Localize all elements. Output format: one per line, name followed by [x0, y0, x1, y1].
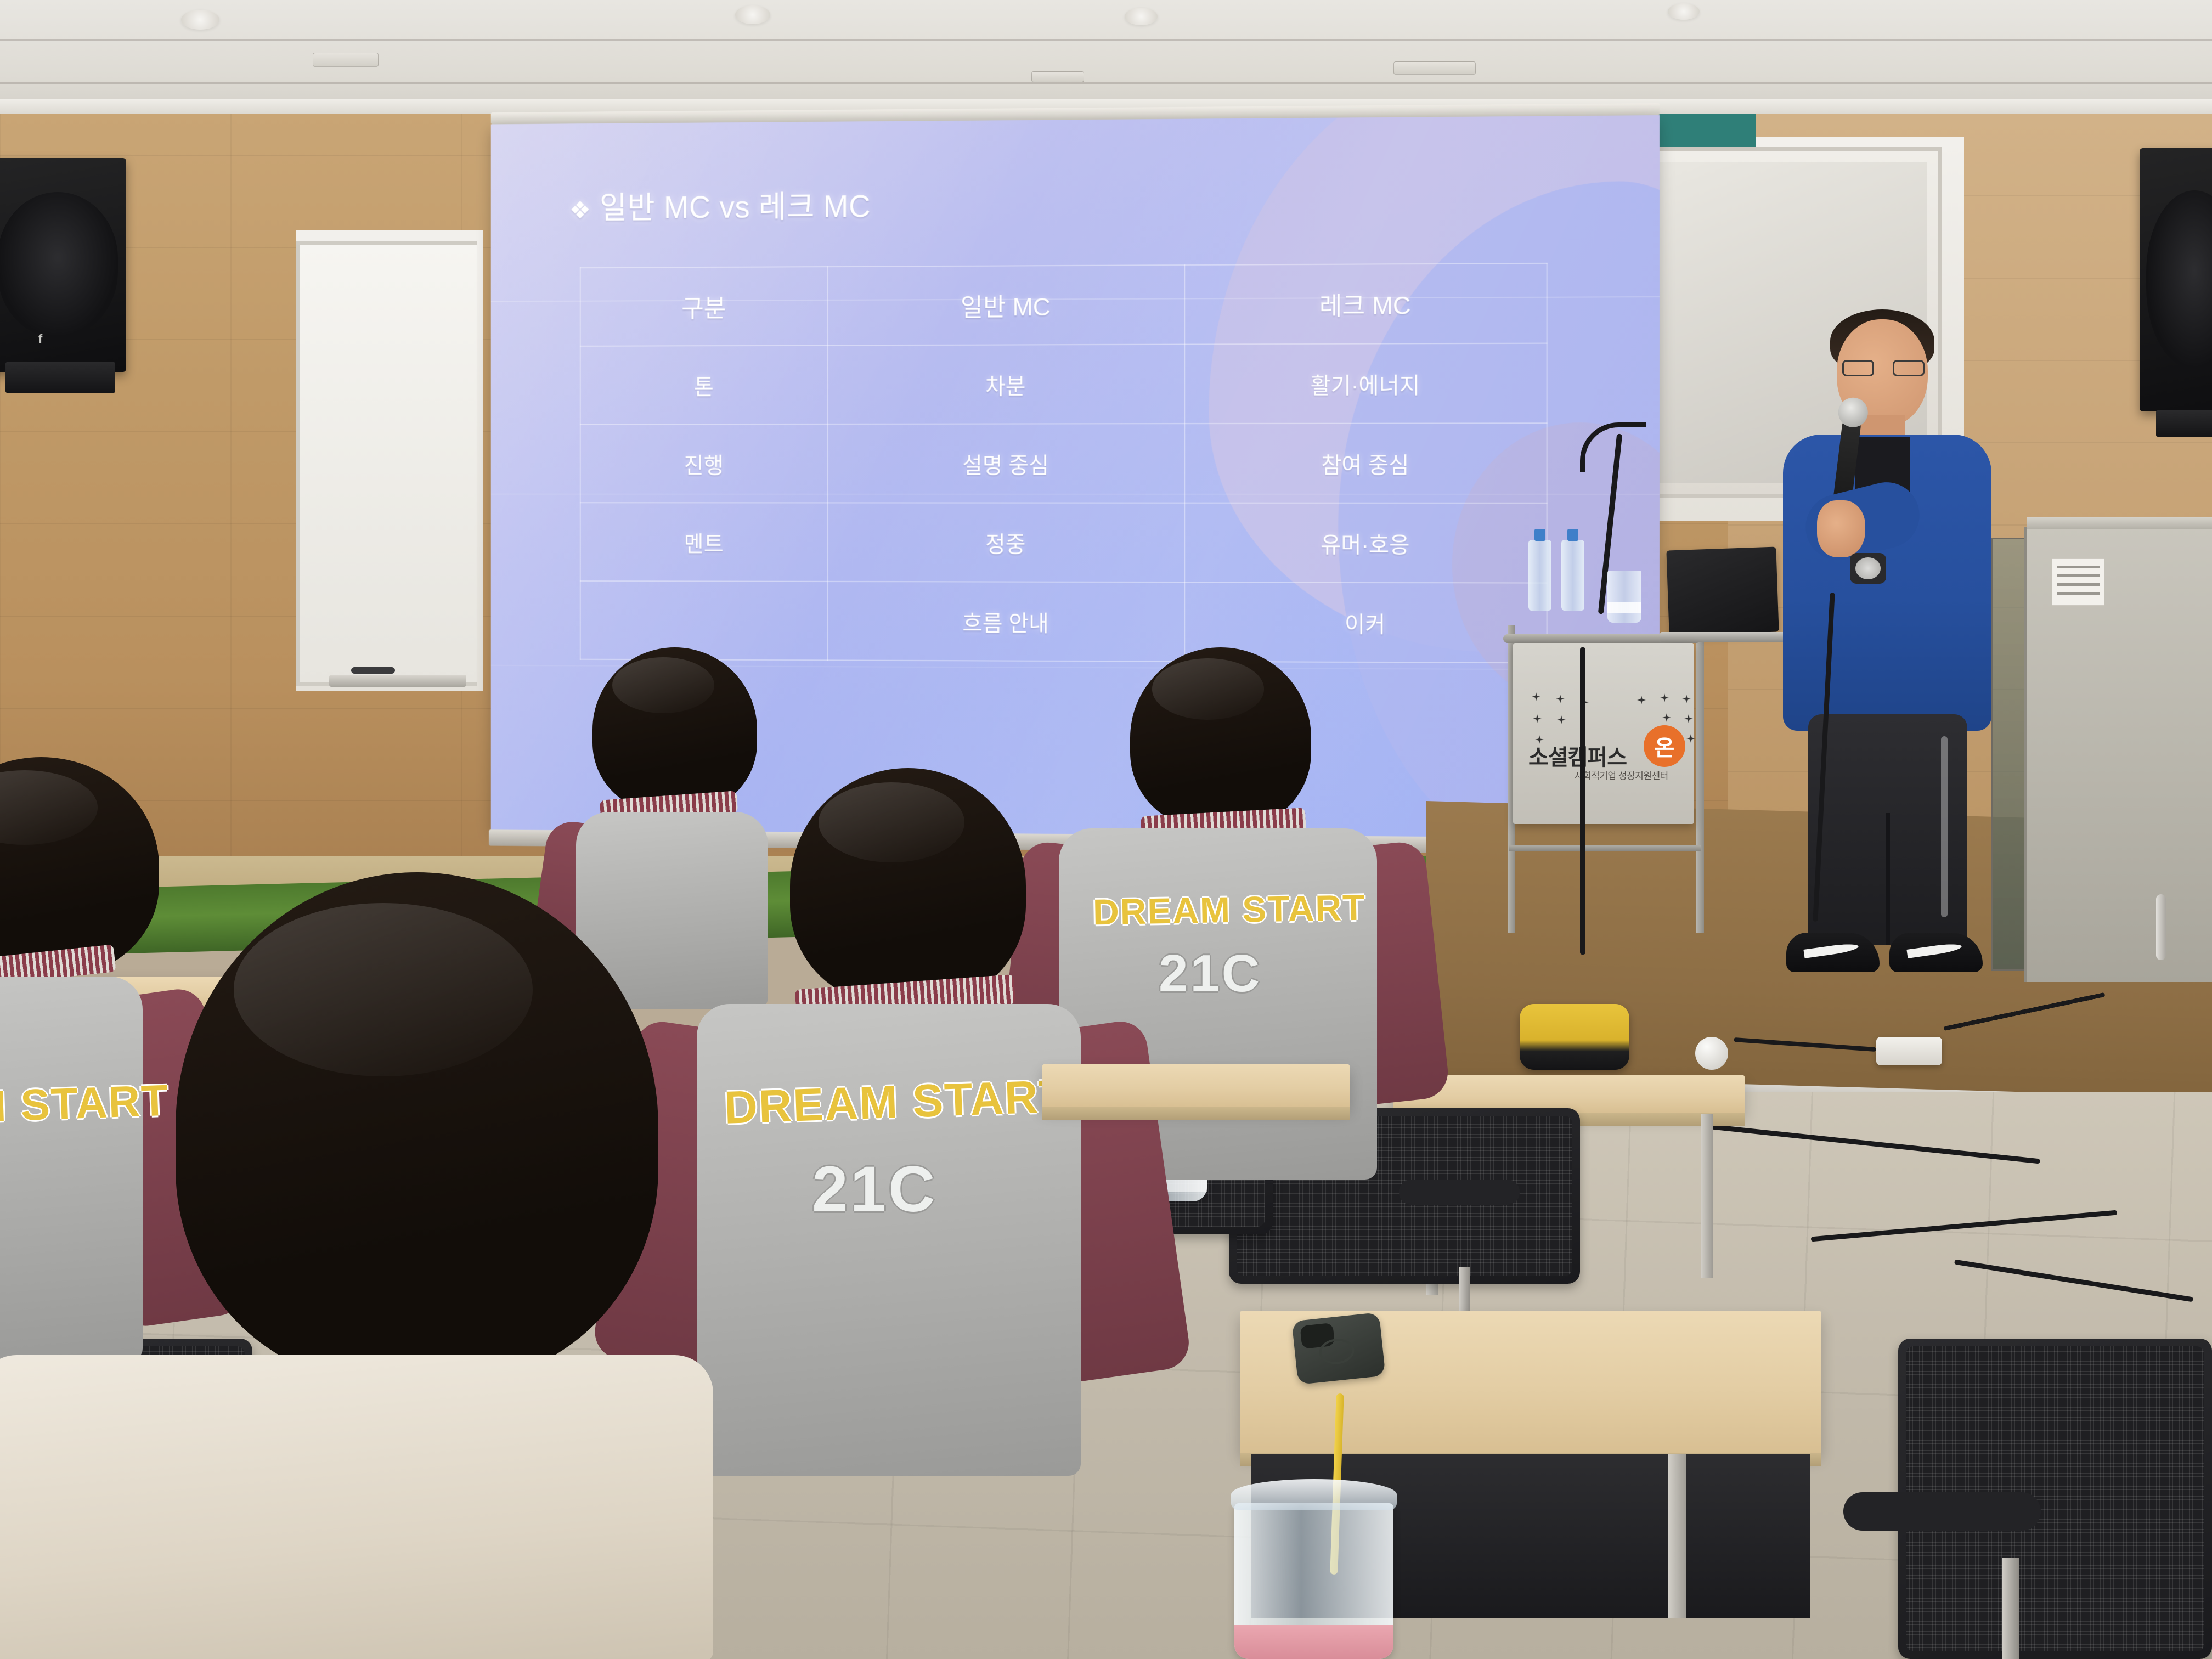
table-row: 진행 설명 중심 참여 중심: [580, 423, 1547, 503]
water-bottle[interactable]: [1561, 540, 1584, 611]
cable: [1580, 647, 1585, 955]
whiteboard-marker: [351, 667, 395, 674]
cabinet-handle[interactable]: [2156, 894, 2166, 960]
sneaker-left: [1786, 933, 1880, 972]
presenter: MDP: [1772, 307, 2002, 1053]
ceiling-light: [1668, 3, 1700, 20]
table-cell: 정중: [828, 503, 1184, 582]
podium-subtitle: 사회적기업 성장지원센터: [1575, 768, 1668, 782]
desk-mid: [1042, 1064, 1350, 1108]
ceiling-vent: [1031, 71, 1084, 82]
equipment-case[interactable]: [1520, 1004, 1629, 1070]
table-row: 톤 차분 활기·에너지: [580, 343, 1547, 425]
attendee-sweater: [0, 1355, 713, 1659]
wall-speaker-left: f: [0, 158, 126, 372]
jacket-number: 21C: [812, 1152, 937, 1227]
table-cell: 진행: [580, 424, 828, 503]
lecture-room-photo: f ❖일반 MC vs 레크 MC 구분 일반: [0, 0, 2212, 1659]
cabinet-label: [2052, 558, 2104, 606]
table-header-row: 구분 일반 MC 레크 MC: [580, 263, 1547, 346]
table-cell: 참여 중심: [1184, 423, 1547, 503]
ceiling-light: [735, 5, 770, 24]
diamond-bullet-icon: ❖: [569, 196, 591, 224]
table-header-cell: 일반 MC: [828, 265, 1184, 345]
ceiling-light: [181, 10, 219, 30]
ceiling-vent: [1393, 61, 1476, 75]
drink-cup-foreground[interactable]: [1234, 1503, 1393, 1659]
speaker-bracket-right: [2156, 410, 2212, 437]
sneaker-right: [1889, 933, 1983, 972]
drink-cup[interactable]: [1607, 571, 1641, 623]
laptop[interactable]: [1666, 547, 1779, 636]
slide-title: ❖일반 MC vs 레크 MC: [569, 182, 871, 228]
desk-leg: [1668, 1454, 1686, 1618]
chair-post: [2002, 1558, 2019, 1659]
table-header-cell: 레크 MC: [1184, 263, 1547, 345]
table-cell: 차분: [828, 345, 1184, 424]
pants-stripe: [1941, 736, 1948, 917]
slide-title-text: 일반 MC vs 레크 MC: [600, 189, 871, 225]
wristwatch: [1850, 553, 1886, 584]
attendee-hair: [176, 872, 658, 1383]
presenter-hand: [1817, 500, 1865, 557]
ceiling-light: [1125, 8, 1158, 25]
ceiling-seam: [0, 39, 2212, 41]
table-cell: 활기·에너지: [1184, 343, 1547, 424]
attendee-foreground: [44, 872, 746, 1659]
podium-banner: 소셜캠퍼스 온 사회적기업 성장지원센터: [1513, 643, 1694, 824]
table-cell: 유머·호응: [1184, 503, 1547, 583]
desk-leg: [1701, 1114, 1713, 1278]
table-cell: 톤: [580, 346, 828, 425]
podium: 소셜캠퍼스 온 사회적기업 성장지원센터: [1503, 603, 1734, 911]
table-row: 멘트 정중 유머·호응: [580, 503, 1547, 583]
glasses-icon: [1842, 360, 1925, 376]
metal-cabinet[interactable]: [2024, 527, 2212, 982]
water-bottle[interactable]: [1528, 540, 1551, 611]
podium-crossbar: [1509, 845, 1701, 851]
smartphone[interactable]: [1291, 1312, 1385, 1385]
presenter-pants: [1808, 714, 1967, 945]
comparison-table: 구분 일반 MC 레크 MC 톤 차분 활기·에너지 진행 설명 중심 참여 중…: [580, 263, 1548, 663]
table-header-cell: 구분: [580, 267, 828, 346]
ceiling-vent: [313, 53, 379, 67]
podium-logo-text: 소셜캠퍼스: [1528, 740, 1627, 771]
on-badge-icon: 온: [1644, 725, 1685, 767]
speaker-bracket-left: [5, 362, 115, 393]
floor-ball[interactable]: [1695, 1037, 1728, 1070]
ceiling-seam: [0, 82, 2212, 84]
attendee-hair: [790, 768, 1026, 1004]
whiteboard-tray: [329, 675, 466, 687]
wall-speaker-right: [2140, 148, 2212, 411]
whiteboard: [296, 241, 477, 686]
chair-armrest: [1843, 1492, 2041, 1531]
table-cell: 멘트: [580, 503, 828, 582]
table-cell: 설명 중심: [828, 424, 1184, 503]
power-strip[interactable]: [1876, 1037, 1942, 1065]
